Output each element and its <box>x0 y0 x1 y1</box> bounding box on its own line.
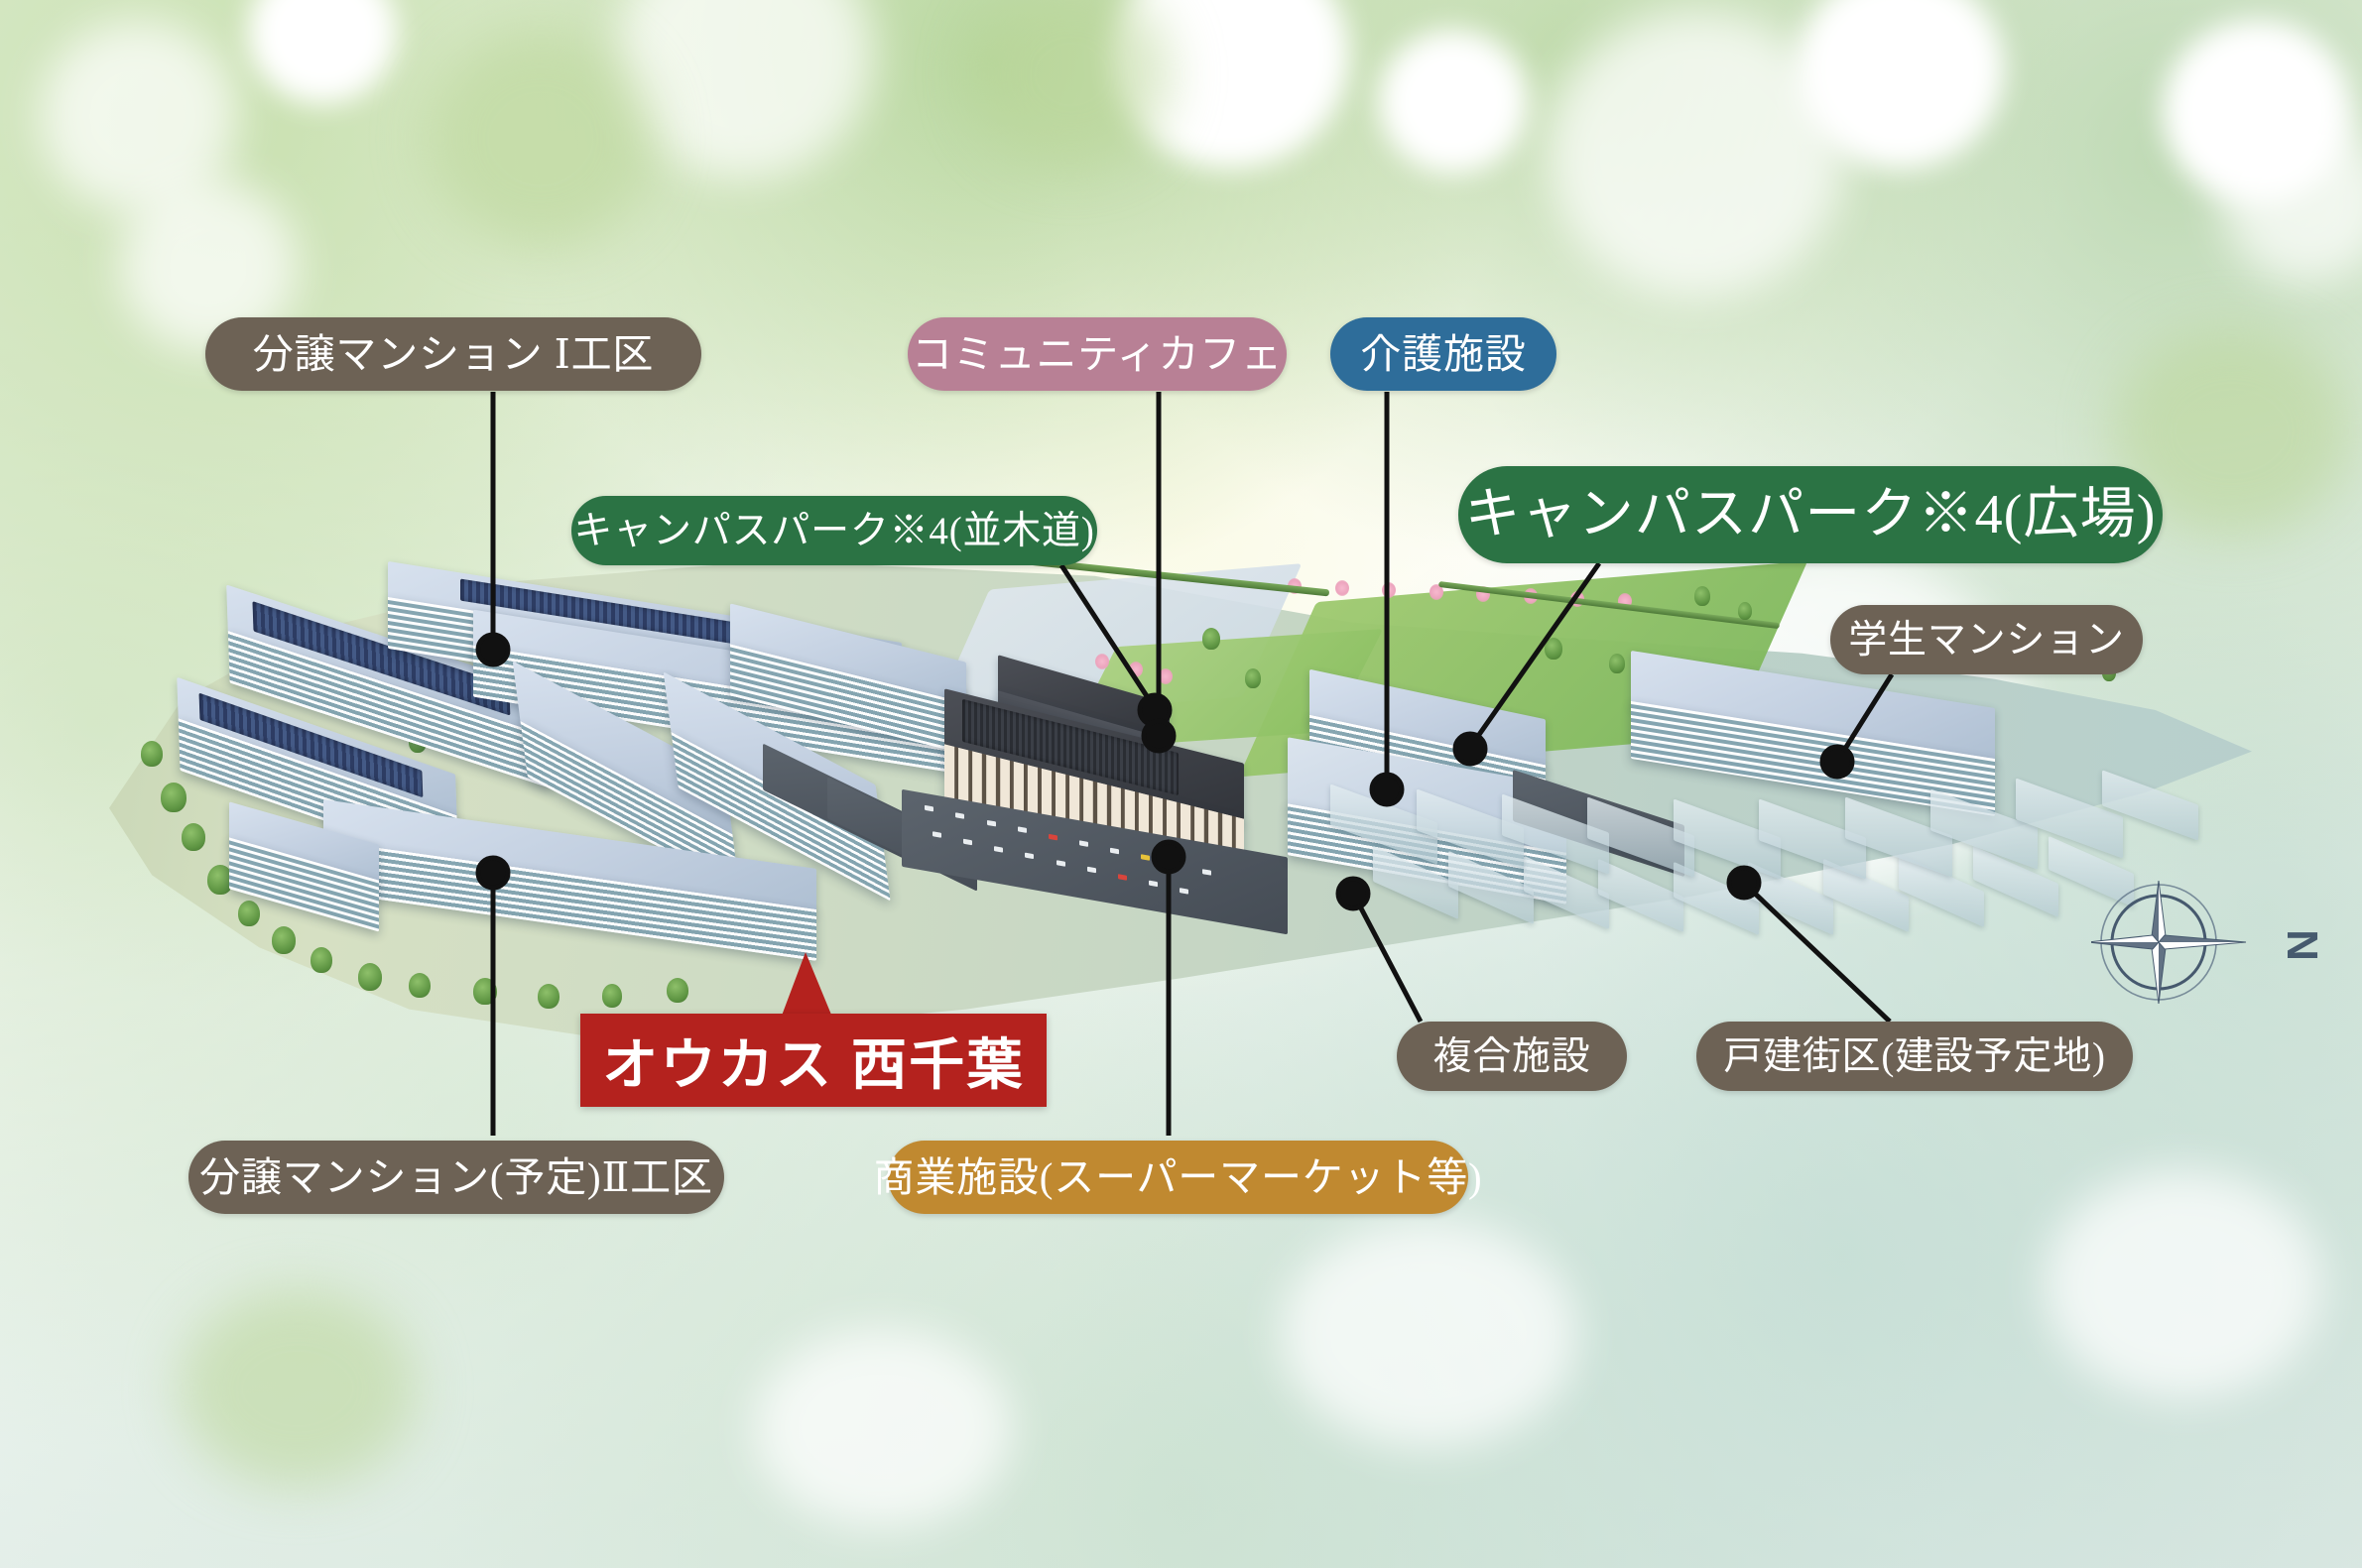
label-shogyo-shisetsu-text: 商業施設(スーパーマーケット等) <box>874 1157 1483 1198</box>
label-bunjo-1-text: 分譲マンション Ⅰ工区 <box>253 334 654 375</box>
label-campus-park-hiroba-text: キャンパスパーク※4(広場) <box>1465 487 2157 543</box>
label-gakusei-mansion-text: 学生マンション <box>1848 621 2124 660</box>
label-kaigo-shisetsu-text: 介護施設 <box>1360 334 1526 375</box>
label-campus-park-hiroba[interactable]: キャンパスパーク※4(広場) <box>1458 466 2163 563</box>
compass-rose-icon <box>2091 873 2250 1012</box>
label-campus-park-namikimichi-text: キャンパスパーク※4(並木道) <box>573 512 1094 550</box>
label-community-cafe-text: コミュニティカフェ <box>912 334 1283 375</box>
compass-north-letter: N <box>2277 929 2326 961</box>
label-fukugo-shisetsu[interactable]: 複合施設 <box>1397 1022 1627 1091</box>
label-fukugo-shisetsu-text: 複合施設 <box>1432 1037 1590 1076</box>
label-highlight-text: オウカス 西千葉 <box>602 1021 1024 1101</box>
label-kaigo-shisetsu[interactable]: 介護施設 <box>1330 317 1556 391</box>
label-bunjo-1[interactable]: 分譲マンション Ⅰ工区 <box>205 317 701 391</box>
label-highlight-oukasu-nishichiba[interactable]: オウカス 西千葉 <box>580 1014 1047 1107</box>
label-bunjo-2[interactable]: 分譲マンション(予定)Ⅱ工区 <box>188 1141 724 1214</box>
label-kodate-gaiku-text: 戸建街区(建設予定地) <box>1723 1037 2106 1076</box>
label-gakusei-mansion[interactable]: 学生マンション <box>1830 605 2143 674</box>
label-kodate-gaiku[interactable]: 戸建街区(建設予定地) <box>1696 1022 2133 1091</box>
site-map-canvas: 分譲マンション Ⅰ工区 コミュニティカフェ 介護施設 キャンパスパーク※4(並木… <box>0 0 2362 1568</box>
label-campus-park-namikimichi[interactable]: キャンパスパーク※4(並木道) <box>571 496 1097 565</box>
label-community-cafe[interactable]: コミュニティカフェ <box>908 317 1287 391</box>
label-bunjo-2-text: 分譲マンション(予定)Ⅱ工区 <box>199 1157 713 1198</box>
label-shogyo-shisetsu[interactable]: 商業施設(スーパーマーケット等) <box>888 1141 1468 1214</box>
compass-rose: N <box>2091 873 2339 1012</box>
